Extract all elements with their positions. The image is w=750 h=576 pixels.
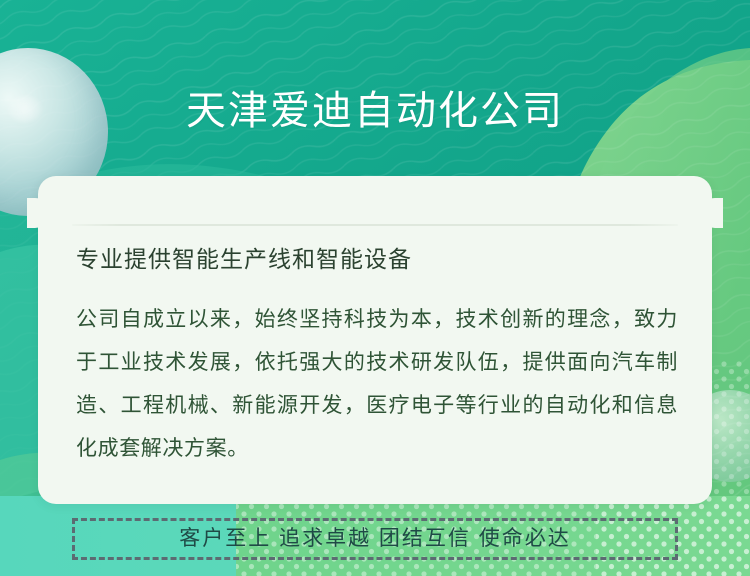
- content-card: 专业提供智能生产线和智能设备 公司自成立以来，始终坚持科技为本，技术创新的理念，…: [38, 176, 712, 504]
- slogan-text: 客户至上 追求卓越 团结互信 使命必达: [179, 524, 571, 554]
- card-notch-left: [27, 198, 49, 228]
- slogan-banner: 客户至上 追求卓越 团结互信 使命必达: [72, 518, 678, 560]
- card-body: 专业提供智能生产线和智能设备 公司自成立以来，始终坚持科技为本，技术创新的理念，…: [76, 242, 678, 470]
- poster-title: 天津爱迪自动化公司: [0, 85, 750, 137]
- card-notch-right: [701, 198, 723, 228]
- card-divider: [72, 224, 678, 226]
- poster-canvas: 天津爱迪自动化公司 专业提供智能生产线和智能设备 公司自成立以来，始终坚持科技为…: [0, 0, 750, 576]
- card-heading: 专业提供智能生产线和智能设备: [76, 242, 678, 276]
- card-paragraph: 公司自成立以来，始终坚持科技为本，技术创新的理念，致力于工业技术发展，依托强大的…: [76, 298, 678, 470]
